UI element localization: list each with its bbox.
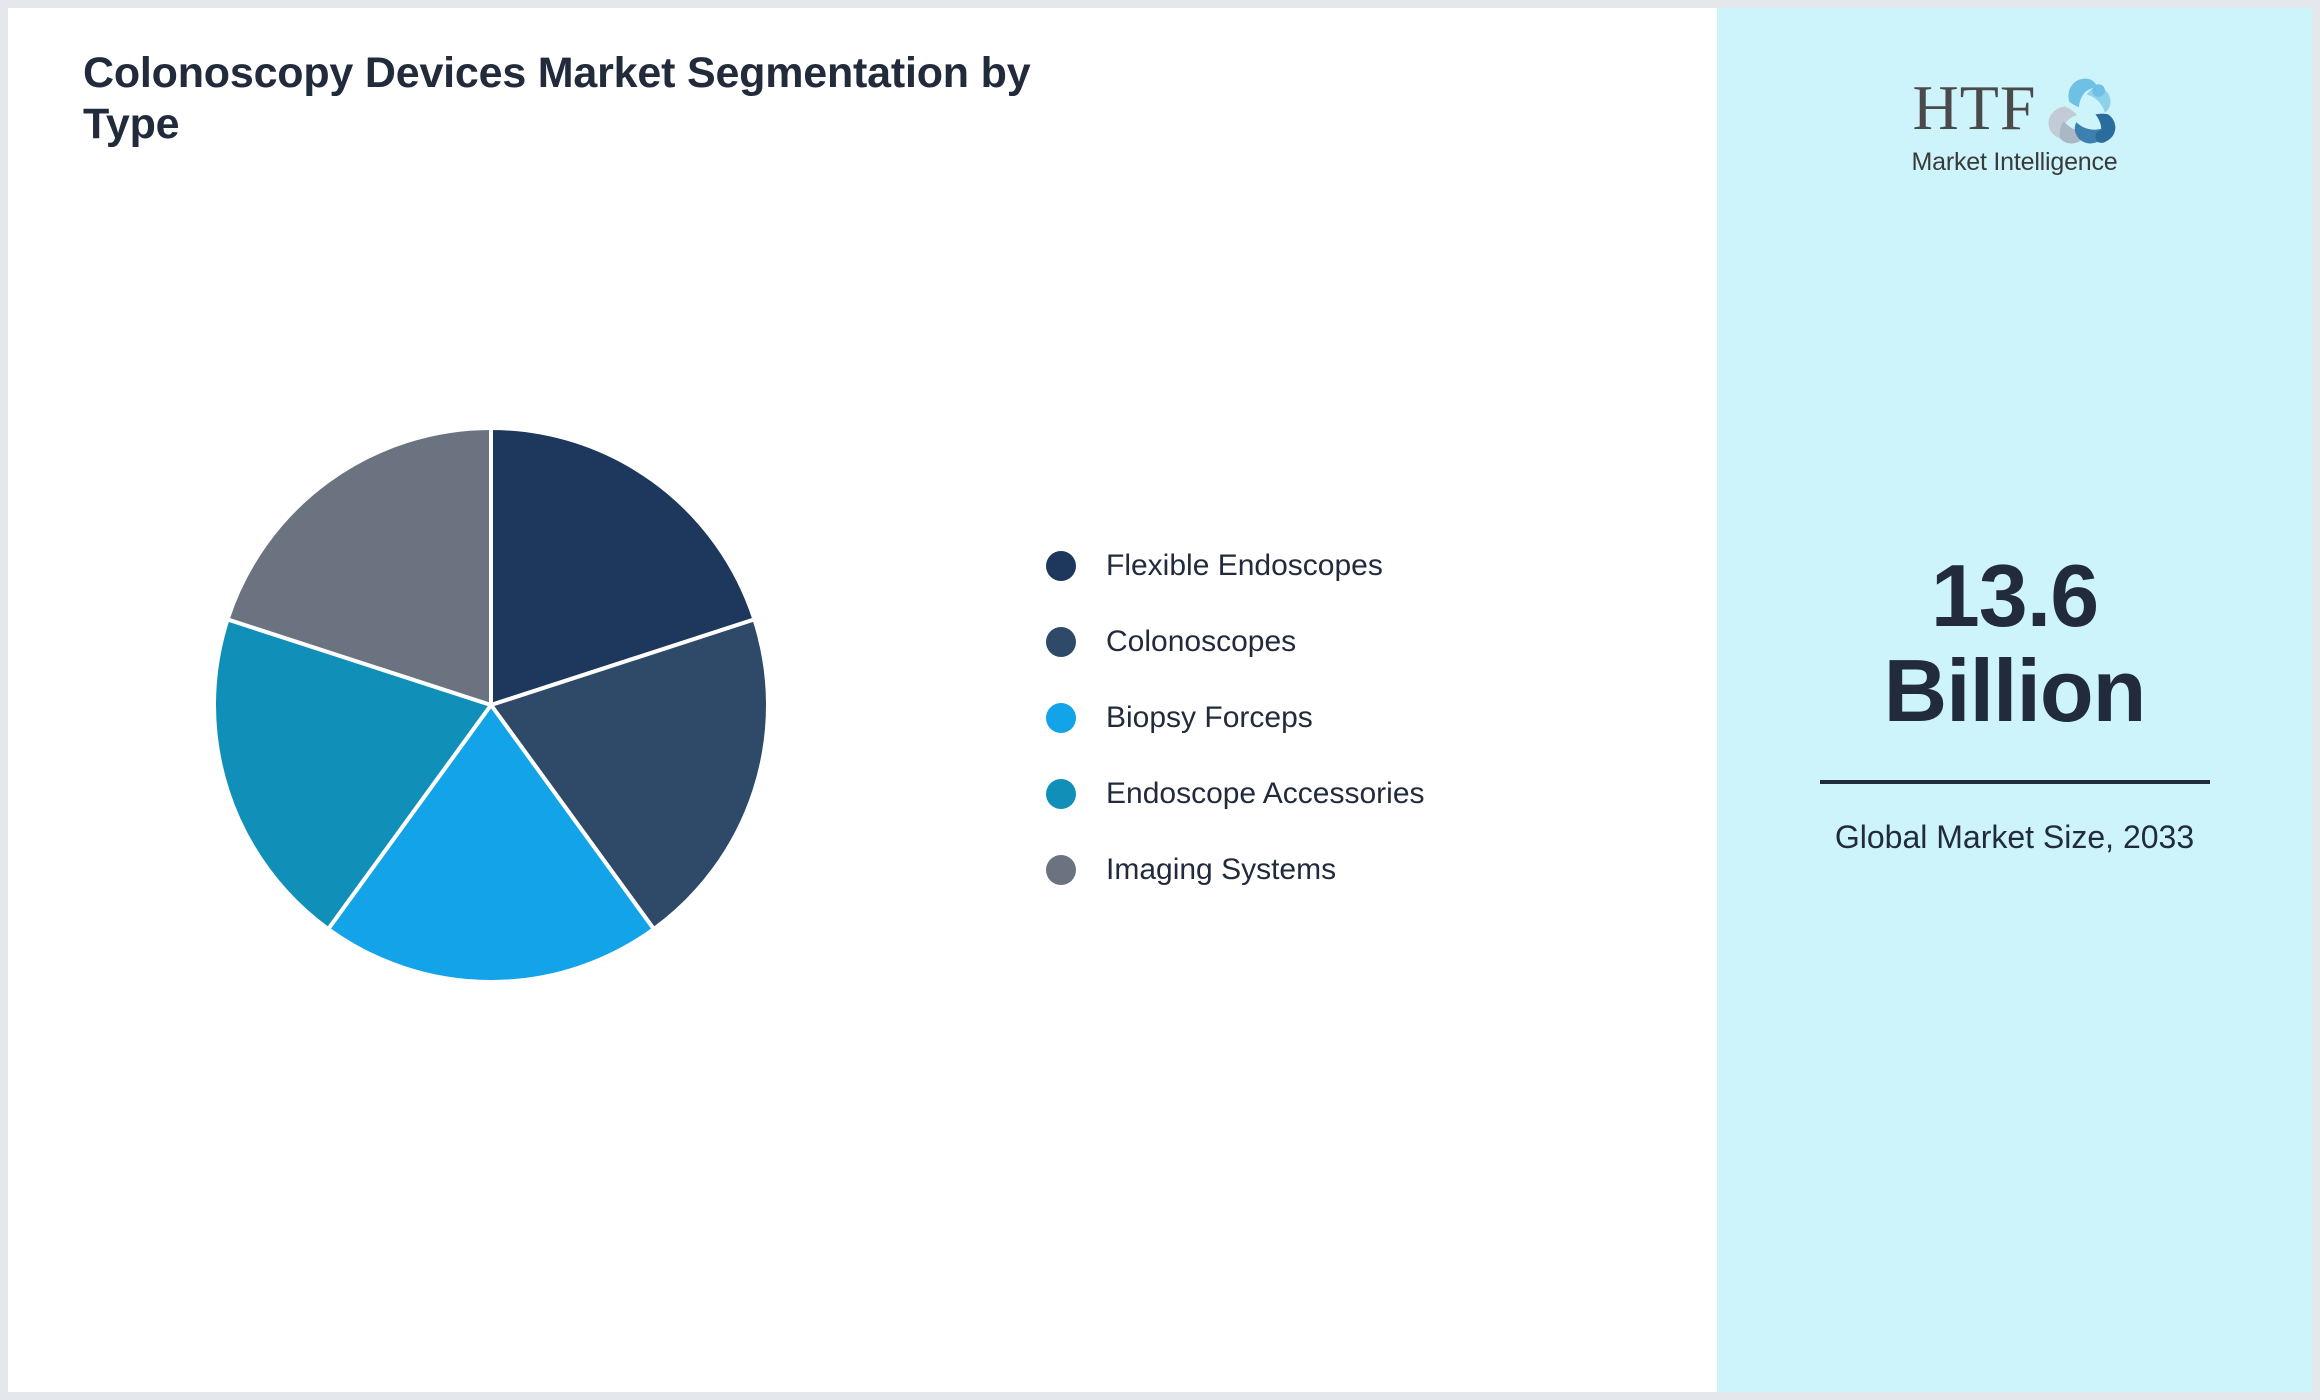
chart-legend: Flexible Endoscopes Colonoscopes Biopsy …: [1046, 528, 1566, 908]
stat-divider: [1820, 780, 2210, 784]
three-figures-circle-icon: [2041, 70, 2123, 146]
logo-mark-row: HTF: [1905, 70, 2125, 148]
legend-item-biopsy-forceps[interactable]: Biopsy Forceps: [1046, 680, 1566, 756]
legend-item-imaging-systems[interactable]: Imaging Systems: [1046, 832, 1566, 908]
legend-swatch-icon: [1046, 855, 1076, 885]
pie-slice-group: [214, 428, 768, 982]
legend-swatch-icon: [1046, 627, 1076, 657]
legend-label: Endoscope Accessories: [1106, 779, 1425, 809]
legend-item-endoscope-accessories[interactable]: Endoscope Accessories: [1046, 756, 1566, 832]
title-block: Colonoscopy Devices Market Segmentation …: [83, 48, 1083, 149]
legend-swatch-icon: [1046, 703, 1076, 733]
legend-label: Biopsy Forceps: [1106, 703, 1313, 733]
legend-label: Imaging Systems: [1106, 855, 1336, 885]
stat-value: 13.6 Billion: [1805, 548, 2225, 738]
legend-label: Flexible Endoscopes: [1106, 551, 1383, 581]
stat-block: 13.6 Billion Global Market Size, 2033: [1805, 548, 2225, 859]
legend-item-colonoscopes[interactable]: Colonoscopes: [1046, 604, 1566, 680]
content-frame: Colonoscopy Devices Market Segmentation …: [8, 8, 2312, 1392]
brand-logo: HTF M: [1900, 70, 2130, 175]
chart-panel: Colonoscopy Devices Market Segmentation …: [8, 8, 1717, 1392]
legend-swatch-icon: [1046, 779, 1076, 809]
page-title: Colonoscopy Devices Market Segmentation …: [83, 48, 1083, 149]
infographic-root: Colonoscopy Devices Market Segmentation …: [0, 0, 2320, 1400]
legend-label: Colonoscopes: [1106, 627, 1296, 657]
pie-chart-svg: [206, 420, 776, 990]
stat-caption: Global Market Size, 2033: [1805, 816, 2225, 859]
legend-item-flexible-endoscopes[interactable]: Flexible Endoscopes: [1046, 528, 1566, 604]
stat-sidebar: HTF M: [1717, 8, 2312, 1392]
legend-swatch-icon: [1046, 551, 1076, 581]
logo-wordmark: HTF: [1913, 76, 2037, 140]
pie-chart: [206, 420, 776, 990]
logo-tagline: Market Intelligence: [1911, 150, 2117, 175]
